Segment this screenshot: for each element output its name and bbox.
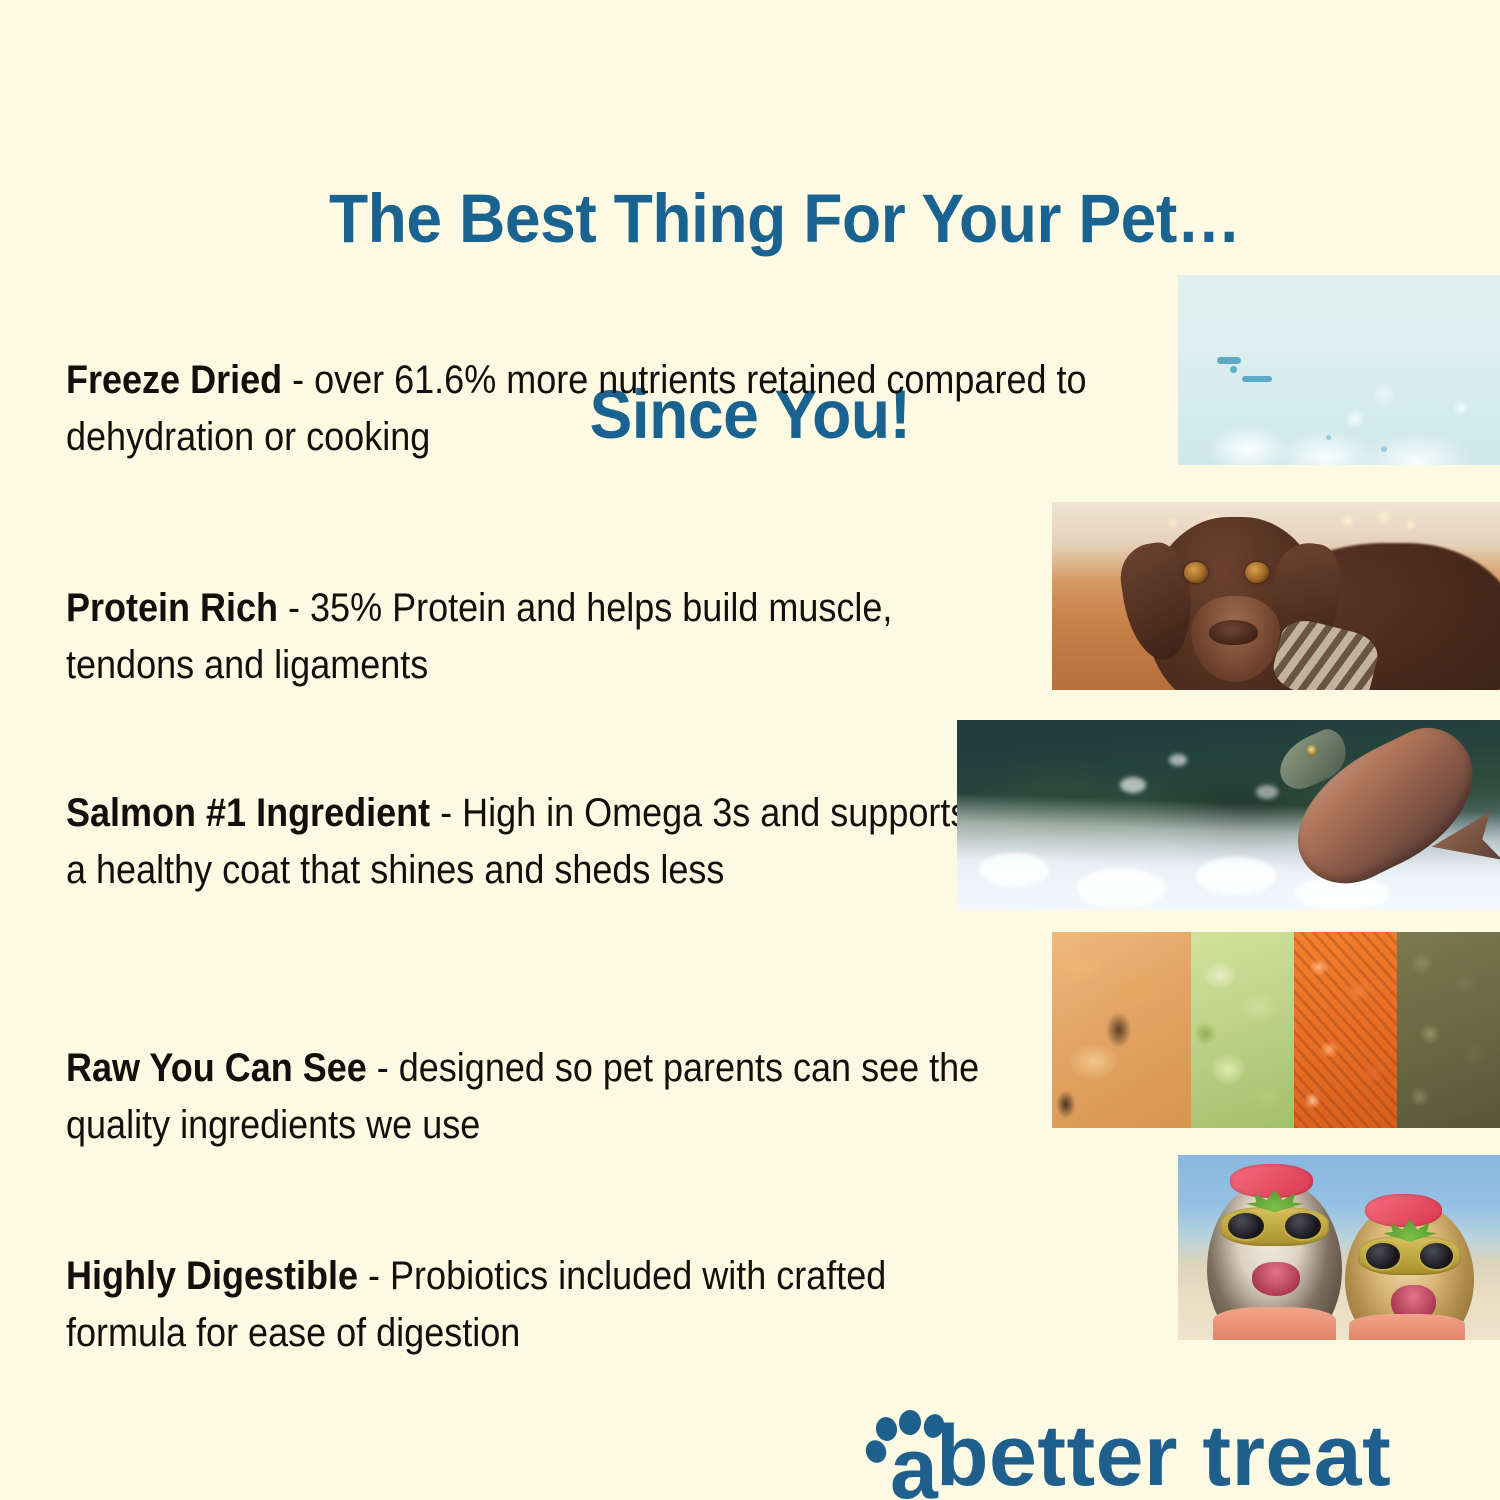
benefit-lede: Freeze Dried [66,358,282,402]
chocolate-labrador-dog-photo [1052,502,1500,690]
benefit-item-raw-you-can-see: Raw You Can See - designed so pet parent… [66,1040,984,1154]
dog-eye-left [1184,562,1208,583]
paw-toe-1 [862,1437,889,1466]
dog-nose [1209,620,1258,644]
ice-crystals-photo [1178,275,1500,465]
water-foam [1196,857,1276,895]
water-foam [1076,868,1166,908]
logo-wordmark: better treat [936,1413,1391,1499]
hair-bow-left [1230,1164,1314,1197]
ice-crystals-photo-body [1178,275,1500,465]
logo-letter-a: a [890,1434,938,1500]
sunglass-lens [1364,1241,1401,1271]
benefit-lede: Highly Digestible [66,1254,358,1298]
ingredient-band-carrot [1294,932,1397,1128]
ice-speck [1326,435,1331,440]
water-foam [979,853,1049,887]
dog-eye-right [1245,562,1269,583]
dog-bandana-right [1349,1314,1465,1340]
dog-photo-body [1052,502,1500,690]
water-spray [1120,777,1146,793]
salmon-leaping-in-rapids-photo [957,720,1500,910]
ice-shard [1217,357,1241,364]
salmon-fish-eye [1306,745,1318,756]
ice-speck [1381,446,1387,452]
dog-open-mouth-left [1252,1262,1300,1295]
beach-dogs-photo-body [1178,1155,1500,1340]
ingredients-photo-body [1052,932,1500,1128]
brand-logo[interactable]: a better treat [866,1408,1391,1500]
page-title-line-1: The Best Thing For Your Pet… [329,180,1241,257]
sunglass-lens [1226,1211,1265,1241]
benefit-item-protein-rich: Protein Rich - 35% Protein and helps bui… [66,580,984,694]
hair-bow-right [1365,1194,1442,1227]
water-spray [1169,754,1187,766]
benefit-lede: Salmon #1 Ingredient [66,791,430,835]
sunglass-lens [1283,1211,1322,1241]
benefit-item-highly-digestible: Highly Digestible - Probiotics included … [66,1248,966,1362]
pineapple-sunglasses-right [1358,1236,1461,1275]
ingredient-band-broccoli [1191,932,1294,1128]
benefit-lede: Raw You Can See [66,1046,367,1090]
benefit-lede: Protein Rich [66,586,278,630]
salmon-photo-body [957,720,1500,910]
ingredient-band-kibble [1397,932,1500,1128]
dog-bandana-left [1213,1307,1335,1340]
freeze-dried-ingredients-photo [1052,932,1500,1128]
benefit-item-salmon-first-ingredient: Salmon #1 Ingredient - High in Omega 3s … [66,785,975,899]
sunglass-lens [1418,1241,1455,1271]
ice-speck [1230,366,1237,373]
ingredient-band-sweet-potato [1052,932,1191,1128]
infographic-page: The Best Thing For Your Pet… Since You! … [0,0,1500,1500]
pineapple-sunglasses-left [1220,1207,1329,1246]
benefit-item-freeze-dried: Freeze Dried - over 61.6% more nutrients… [66,352,1110,466]
two-dogs-wearing-sunglasses-photo [1178,1155,1500,1340]
water-spray [1256,785,1278,799]
ice-shard [1242,376,1272,382]
paw-print-icon: a [866,1410,962,1500]
